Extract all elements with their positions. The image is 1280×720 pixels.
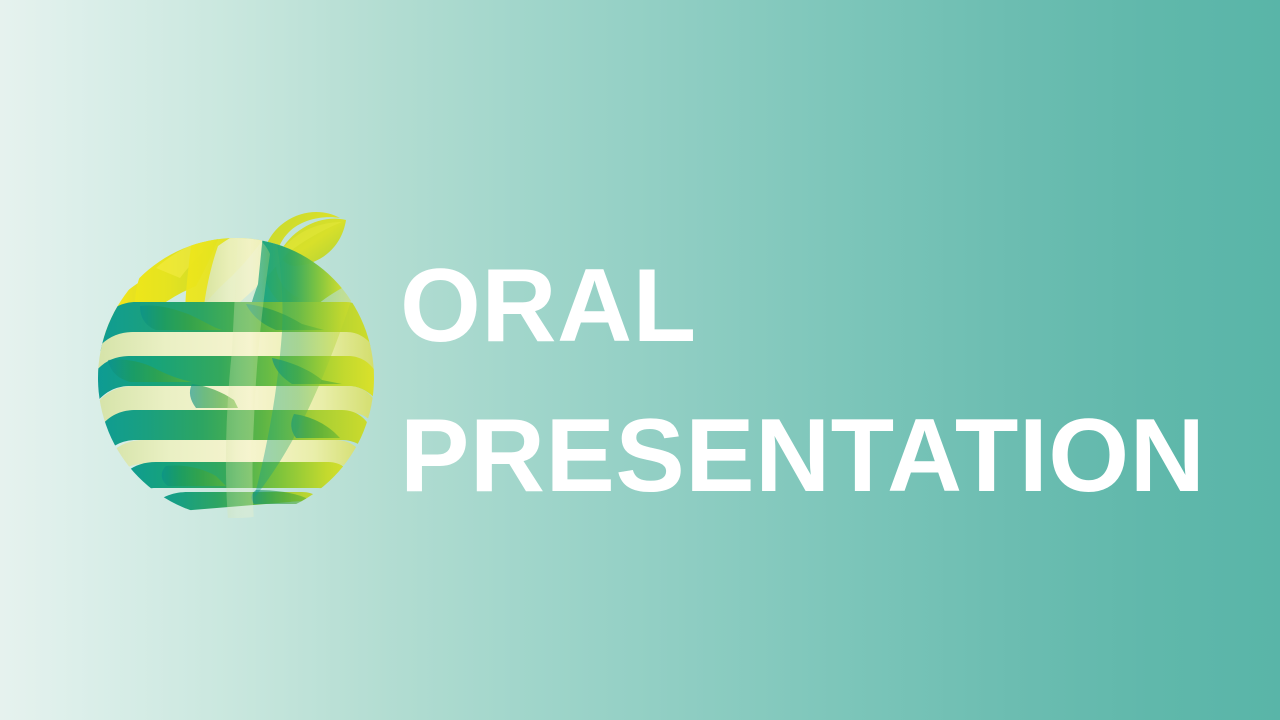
title-line-2: PRESENTATION bbox=[400, 381, 1200, 531]
title-slide: ORAL PRESENTATION bbox=[0, 0, 1280, 720]
title-line-1: ORAL bbox=[400, 231, 1200, 381]
globe-ribbon-logo bbox=[96, 198, 380, 522]
page-title: ORAL PRESENTATION bbox=[400, 231, 1200, 531]
